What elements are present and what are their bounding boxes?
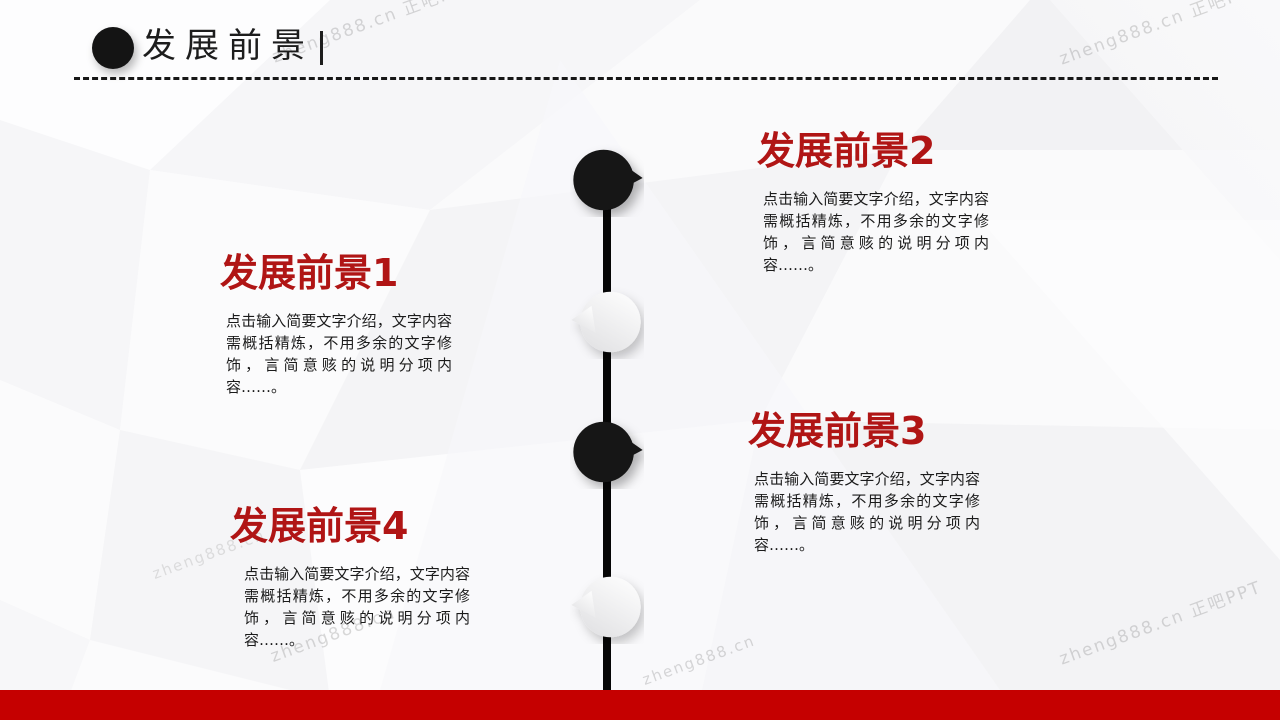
content-block-2: 发展前景2 点击输入简要文字介绍，文字内容需概括精炼，不用多余的文字修饰，言简意…	[757, 128, 1027, 276]
slide-canvas: zheng888.cn 正吧PPT zheng888.cn 正吧PPT zhen…	[0, 0, 1280, 720]
block-title: 发展前景1	[220, 250, 490, 296]
speech-bubble-marker-icon	[570, 415, 644, 489]
block-body-text: 点击输入简要文字介绍，文字内容需概括精炼，不用多余的文字修饰，言简意赅的说明分项…	[244, 563, 470, 651]
timeline-node-1[interactable]	[570, 143, 644, 217]
timeline-node-4[interactable]	[570, 570, 644, 644]
slide-header: 发展前景	[0, 0, 1280, 100]
speech-bubble-marker-icon	[570, 143, 644, 217]
block-title: 发展前景4	[230, 503, 500, 549]
block-body-text: 点击输入简要文字介绍，文字内容需概括精炼，不用多余的文字修饰，言简意赅的说明分项…	[226, 310, 452, 398]
speech-bubble-marker-icon	[570, 285, 644, 359]
timeline-node-3[interactable]	[570, 415, 644, 489]
filled-circle-icon	[92, 27, 134, 69]
header-dashed-divider	[74, 77, 1218, 80]
block-title: 发展前景3	[748, 408, 1018, 454]
timeline-node-2[interactable]	[570, 285, 644, 359]
block-body-text: 点击输入简要文字介绍，文字内容需概括精炼，不用多余的文字修饰，言简意赅的说明分项…	[754, 468, 980, 556]
footer-accent-bar	[0, 690, 1280, 720]
speech-bubble-marker-icon	[570, 570, 644, 644]
block-title: 发展前景2	[757, 128, 1027, 174]
content-block-4: 发展前景4 点击输入简要文字介绍，文字内容需概括精炼，不用多余的文字修饰，言简意…	[230, 503, 500, 651]
block-body-text: 点击输入简要文字介绍，文字内容需概括精炼，不用多余的文字修饰，言简意赅的说明分项…	[763, 188, 989, 276]
page-title: 发展前景	[142, 22, 314, 70]
content-block-3: 发展前景3 点击输入简要文字介绍，文字内容需概括精炼，不用多余的文字修饰，言简意…	[748, 408, 1018, 556]
content-block-1: 发展前景1 点击输入简要文字介绍，文字内容需概括精炼，不用多余的文字修饰，言简意…	[220, 250, 490, 398]
title-caret-mark	[320, 31, 323, 65]
